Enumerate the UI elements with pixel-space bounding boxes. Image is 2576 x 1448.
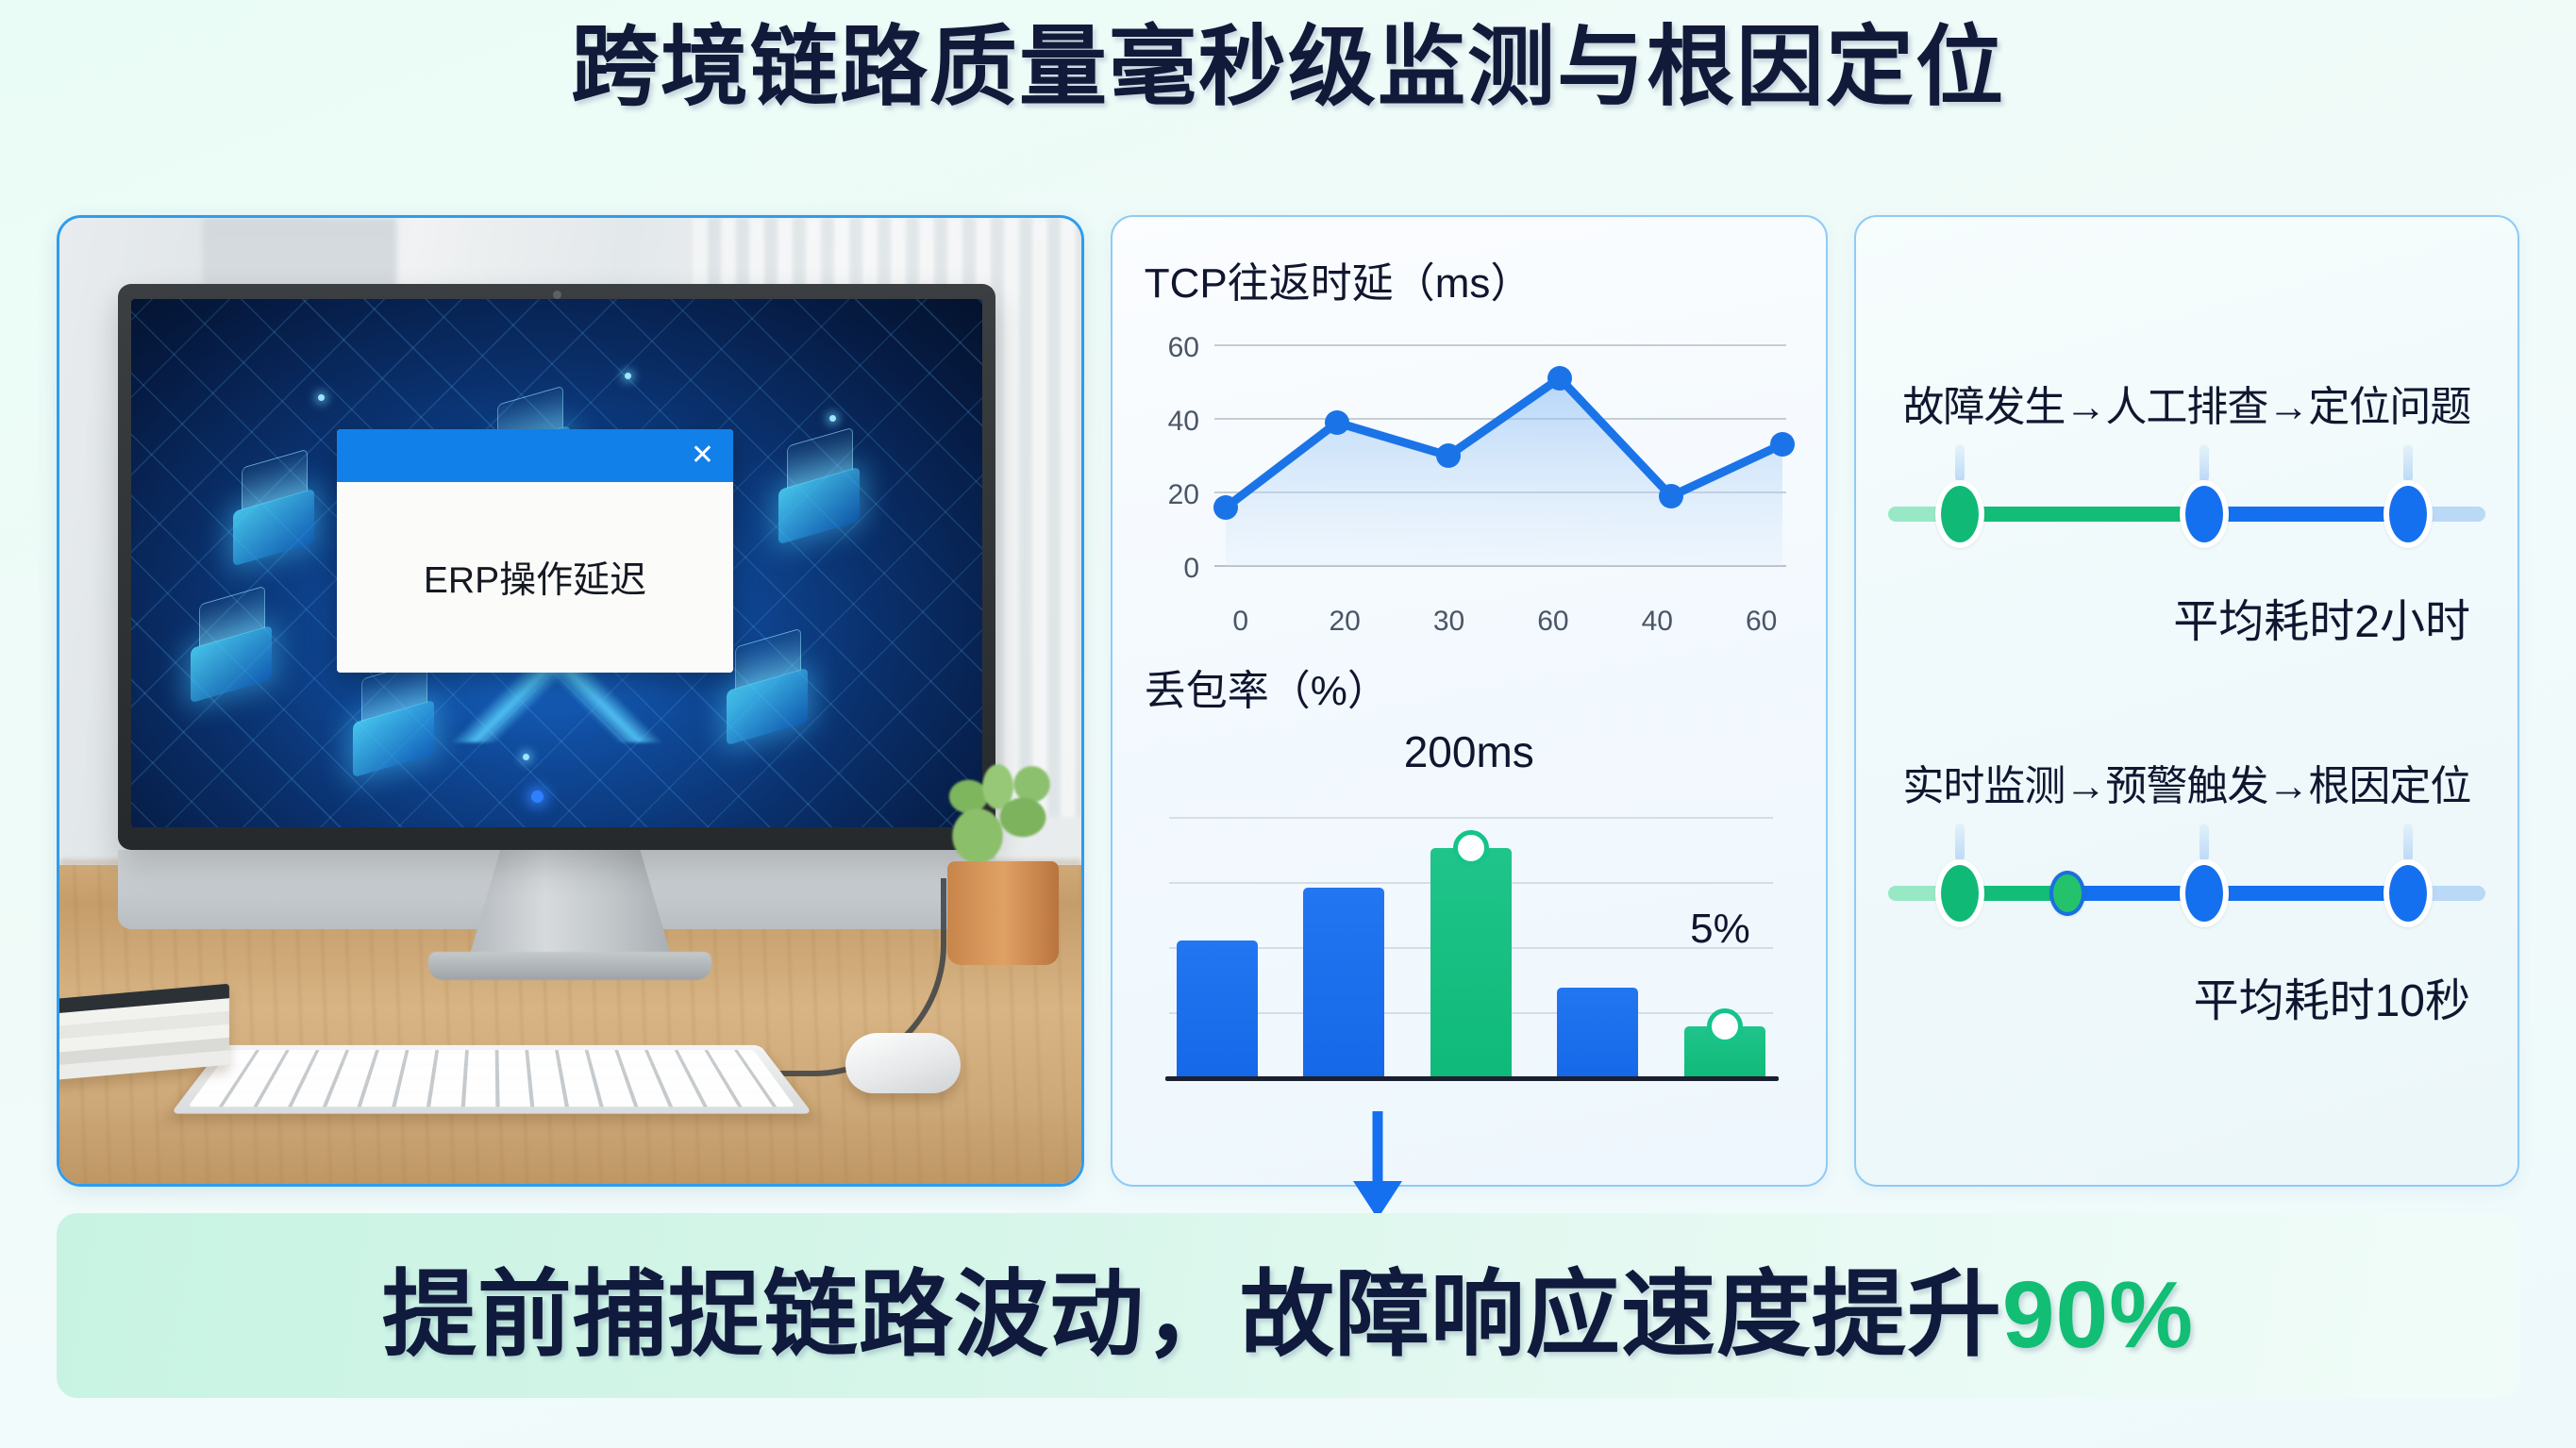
close-icon[interactable]: ✕ xyxy=(691,441,714,470)
node-tick-icon xyxy=(2403,824,2413,861)
svg-text:40: 40 xyxy=(1167,406,1198,437)
bar-series xyxy=(1177,817,1765,1079)
monitor-stand-neck xyxy=(468,848,672,959)
tcp-rtt-line-chart: 60 40 20 0 0 20 30 60 40 60 xyxy=(1145,321,1794,632)
node-tick-icon xyxy=(2403,444,2413,482)
plant-leaves xyxy=(944,750,1057,873)
node-tick-icon xyxy=(1955,444,1965,482)
dialog-message: ERP操作延迟 xyxy=(337,482,733,673)
x-tick: 0 xyxy=(1214,606,1267,638)
bar-marker-icon xyxy=(1707,1008,1743,1044)
summary-banner: 提前捕捉链路波动，故障响应速度提升90% xyxy=(57,1213,2519,1398)
node-dot-active xyxy=(531,791,544,803)
x-tick: 60 xyxy=(1527,606,1580,638)
plant-pot xyxy=(947,861,1059,965)
webcam-icon xyxy=(553,291,561,299)
bar-chart-baseline xyxy=(1165,1076,1779,1081)
monitor-stand-base xyxy=(428,952,711,980)
node-tick-icon xyxy=(1955,824,1965,861)
office-desk-photo-card: ✕ ERP操作延迟 xyxy=(57,215,1084,1187)
realtime-flow-block: 实时监测→预警触发→根因定位 平均耗时10秒 xyxy=(1888,752,2485,1029)
banner-text: 提前捕捉链路波动，故障响应速度提升90% xyxy=(382,1238,2194,1374)
flow-node[interactable] xyxy=(1935,859,1984,927)
manual-flow-duration: 平均耗时2小时 xyxy=(1888,584,2485,650)
bar-chart-title: 丢包率（%） xyxy=(1145,657,1794,717)
bar-marker-icon xyxy=(1453,830,1489,866)
x-tick: 60 xyxy=(1735,606,1788,638)
realtime-flow-track-wrap xyxy=(1888,837,2485,939)
bar-item xyxy=(1303,888,1384,1079)
node-tick-icon xyxy=(2200,824,2209,861)
svg-text:20: 20 xyxy=(1167,479,1198,510)
metrics-chart-card: TCP往返时延（ms） 60 40 20 0 xyxy=(1111,215,1828,1187)
x-tick: 30 xyxy=(1423,606,1476,638)
realtime-flow-steps: 实时监测→预警触发→根因定位 xyxy=(1888,752,2485,812)
manual-flow-track-wrap xyxy=(1888,458,2485,559)
main-content-row: ✕ ERP操作延迟 TCP往返时延（ms） xyxy=(57,215,2519,1187)
line-chart-svg: 60 40 20 0 xyxy=(1145,321,1798,604)
flow-node[interactable] xyxy=(2180,859,2229,927)
realtime-flow-nodes xyxy=(1888,837,2485,939)
node-tick-icon xyxy=(2200,444,2209,482)
flow-node[interactable] xyxy=(2180,480,2229,548)
flow-node[interactable] xyxy=(2384,480,2433,548)
node-dot xyxy=(829,415,836,422)
desktop-monitor: ✕ ERP操作延迟 xyxy=(118,284,995,850)
svg-text:60: 60 xyxy=(1167,332,1198,363)
flow-node[interactable] xyxy=(1935,480,1984,548)
bar-item xyxy=(1177,940,1258,1079)
bar-item xyxy=(1557,988,1638,1079)
page-title: 跨境链路质量毫秒级监测与根因定位 xyxy=(0,17,2576,118)
svg-text:0: 0 xyxy=(1183,553,1199,584)
manual-flow-block: 故障发生→人工排查→定位问题 平均耗时2小时 xyxy=(1888,373,2485,650)
flow-node[interactable] xyxy=(2384,859,2433,927)
arrow-down-icon xyxy=(1349,1111,1406,1221)
x-tick: 40 xyxy=(1631,606,1683,638)
manual-flow-steps: 故障发生→人工排查→定位问题 xyxy=(1888,373,2485,433)
realtime-flow-duration: 平均耗时10秒 xyxy=(1888,963,2485,1029)
banner-highlight-percent: 90% xyxy=(2002,1262,2194,1368)
bar-item xyxy=(1684,1026,1765,1079)
process-comparison-card: 故障发生→人工排查→定位问题 平均耗时2小时 xyxy=(1854,215,2519,1187)
packet-loss-bar-chart: 200ms 5% xyxy=(1145,726,1794,1104)
line-chart-title: TCP往返时延（ms） xyxy=(1145,249,1794,309)
book-stack xyxy=(57,984,229,1081)
line-chart-x-axis: 0 20 30 60 40 60 xyxy=(1145,606,1794,638)
bar-item xyxy=(1430,848,1512,1079)
dialog-title-bar: ✕ xyxy=(337,429,733,482)
x-tick: 20 xyxy=(1318,606,1371,638)
monitor-screen: ✕ ERP操作延迟 xyxy=(131,299,982,827)
node-dot xyxy=(523,754,529,760)
bar-annotation-200ms: 200ms xyxy=(1404,726,1534,777)
banner-main-text: 提前捕捉链路波动，故障响应速度提升 xyxy=(382,1262,2002,1368)
mouse xyxy=(845,1033,961,1093)
erp-alert-dialog[interactable]: ✕ ERP操作延迟 xyxy=(337,429,733,673)
flow-node-small[interactable] xyxy=(2049,871,2085,916)
manual-flow-nodes xyxy=(1888,458,2485,559)
keyboard xyxy=(171,1045,813,1114)
